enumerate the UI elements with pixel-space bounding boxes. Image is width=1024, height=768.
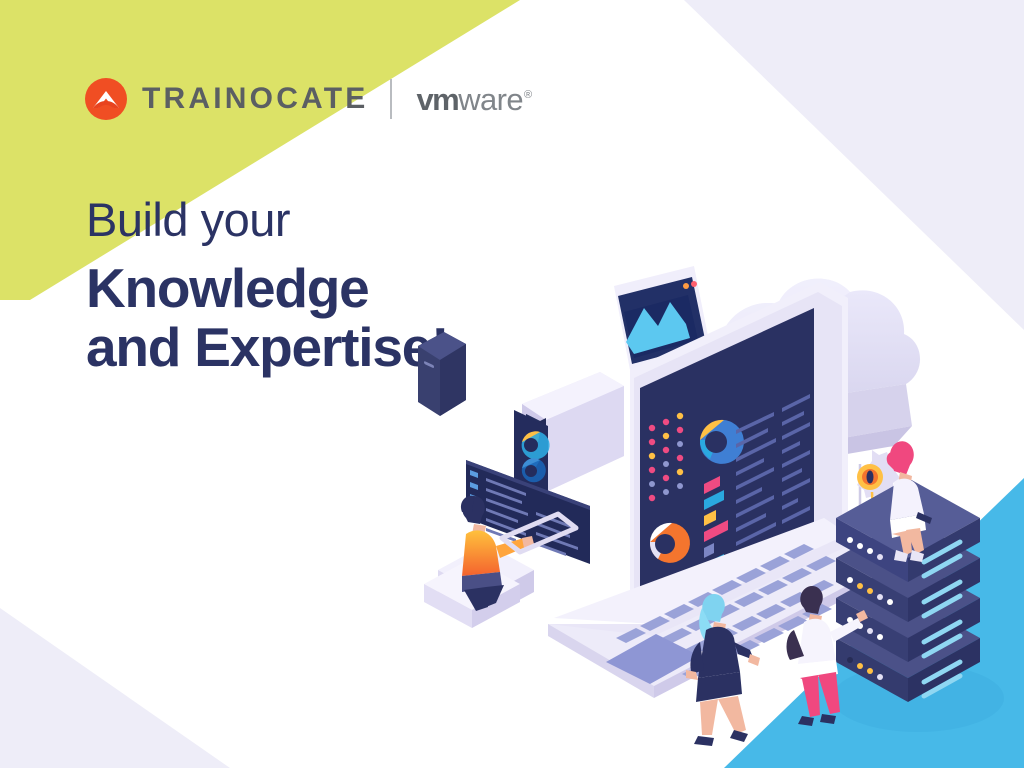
- vmware-light-part: ware: [458, 84, 523, 115]
- lavender-wedge-bottom-left: [0, 468, 230, 768]
- dashboard-donut-top: [700, 420, 744, 464]
- logo-divider: [390, 79, 392, 119]
- partner-logo-vmware: vmware®: [416, 84, 531, 115]
- logo-lockup: TRAINOCATE vmware®: [84, 72, 531, 126]
- registered-trademark-icon: ®: [524, 90, 532, 101]
- dashboard-donut-bottom: [650, 523, 690, 563]
- isometric-illustration: [418, 250, 1024, 750]
- slide-canvas: TRAINOCATE vmware® Build your Knowledge …: [0, 0, 1024, 768]
- headline-line-1: Build your: [86, 196, 546, 243]
- server-tower: [418, 332, 466, 416]
- vmware-bold-part: vm: [416, 84, 458, 115]
- brand-name-trainocate: TRAINOCATE: [142, 84, 368, 114]
- trainocate-chevron-logo-icon: [84, 77, 128, 121]
